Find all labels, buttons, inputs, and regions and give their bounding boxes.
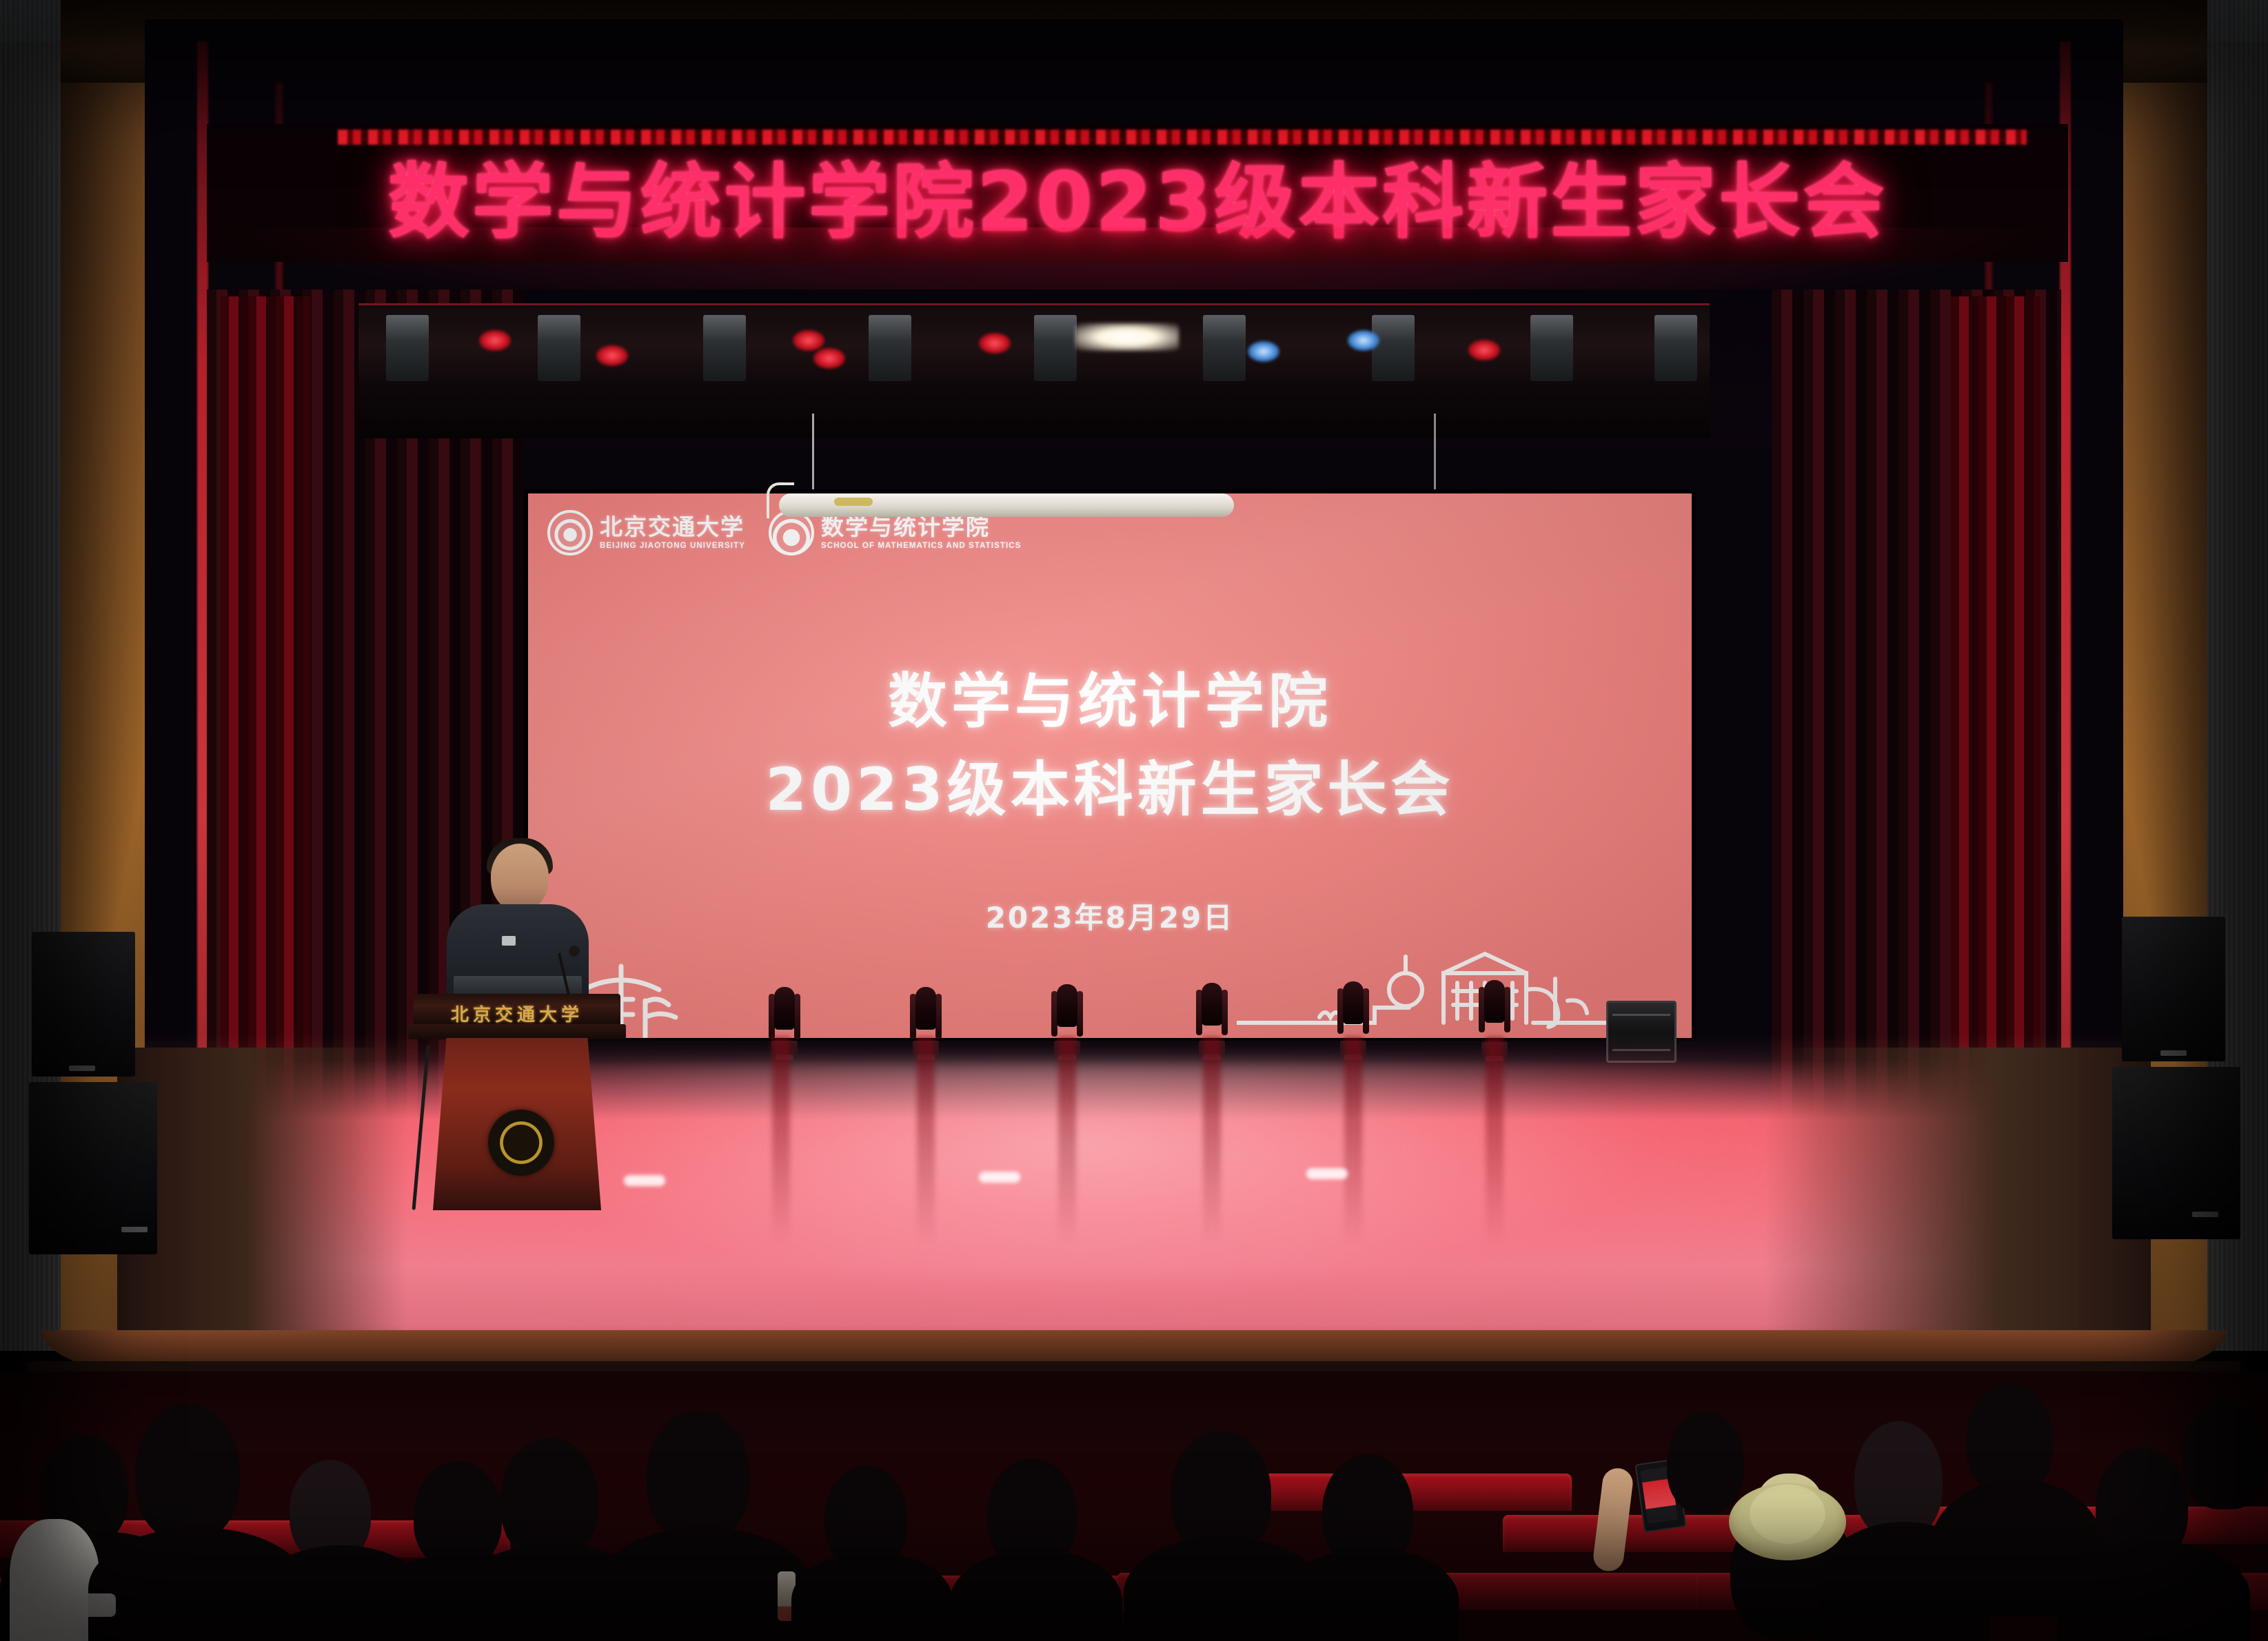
floor-highlight — [979, 1172, 1020, 1183]
truss-fixture-icon — [1372, 315, 1415, 381]
logo-bjtu-cn: 北京交通大学 — [600, 516, 745, 540]
truss-lamp-red-icon — [1468, 340, 1500, 360]
slide-date: 2023年8月29日 — [528, 895, 1692, 937]
bjtu-seal-icon — [547, 510, 593, 556]
audience-head — [2183, 1400, 2268, 1509]
truss-fixture-icon — [1654, 315, 1697, 381]
stage-floor-wing-left — [117, 1048, 407, 1344]
straw-hat — [1729, 1483, 1846, 1560]
pa-speaker-top-right — [2122, 917, 2225, 1061]
slide-title: 数学与统计学院 2023级本科新生家长会 — [528, 658, 1692, 834]
hanging-cable — [1434, 414, 1436, 496]
audience-shoulders — [950, 1549, 1122, 1641]
projection-screen: 北京交通大学 BEIJING JIAOTONG UNIVERSITY 数学与统计… — [528, 493, 1692, 1038]
pa-speaker-badge — [2192, 1212, 2218, 1217]
speaker-head — [491, 844, 549, 913]
pa-speaker-badge — [69, 1066, 95, 1071]
floor-reflection-streak — [772, 1037, 790, 1244]
audience-shoulders — [2057, 1541, 2250, 1641]
truss-fixture-icon — [386, 315, 429, 381]
projector-label-icon — [834, 498, 873, 506]
bjtu-crest-icon — [488, 1110, 554, 1176]
truss-lamp-red-icon — [813, 348, 845, 369]
truss-lamp-red-icon — [479, 330, 511, 351]
audience-head — [1667, 1411, 1744, 1513]
face-mask-icon — [77, 1593, 116, 1617]
pa-speaker-badge — [121, 1227, 148, 1232]
shirt-logo-icon — [502, 936, 516, 946]
truss-lamp-blue-icon — [1248, 341, 1279, 362]
floor-highlight — [624, 1175, 665, 1186]
logo-bjtu: 北京交通大学 BEIJING JIAOTONG UNIVERSITY — [547, 510, 745, 556]
raised-hand — [1592, 1467, 1634, 1573]
audience-head — [647, 1410, 750, 1541]
floor-reflection-streak — [1486, 1037, 1503, 1244]
audience-area — [0, 1372, 2268, 1641]
audience-shoulders — [791, 1552, 953, 1641]
floor-highlight — [1306, 1168, 1348, 1179]
floor-reflection-streak — [1203, 1037, 1221, 1244]
stage-floor-wing-right — [1765, 1048, 2151, 1344]
audience-white-shirt — [10, 1519, 99, 1641]
led-banner: 数学与统计学院2023级本科新生家长会 — [207, 124, 2068, 262]
campus-skyline-art-icon — [1237, 941, 1623, 1038]
truss-fixture-icon — [869, 315, 911, 381]
truss-lamp-red-icon — [793, 330, 824, 351]
auditorium-photo: 数学与统计学院2023级本科新生家长会 — [0, 0, 2268, 1641]
truss-lamp-white-icon — [1075, 323, 1179, 351]
truss-lamp-blue-icon — [1348, 330, 1379, 351]
floor-reflection-streak — [1058, 1037, 1076, 1244]
floor-reflection-streak — [1344, 1037, 1362, 1244]
truss-lamp-red-icon — [596, 345, 628, 366]
slide-title-line2: 2023级本科新生家长会 — [528, 746, 1692, 834]
truss-fixture-icon — [1203, 315, 1246, 381]
podium-group: 北京交通大学 — [414, 910, 620, 1268]
floor-reflection-streak — [917, 1037, 935, 1244]
truss-fixture-icon — [1034, 315, 1077, 381]
microphone-icon — [569, 946, 580, 957]
podium-lip — [408, 1024, 626, 1039]
pa-speaker-top-left — [32, 932, 135, 1077]
audience-shoulders — [1284, 1548, 1459, 1641]
logo-bjtu-en: BEIJING JIAOTONG UNIVERSITY — [600, 542, 745, 551]
logo-smas-cn: 数学与统计学院 — [821, 516, 1021, 540]
audience-head — [1854, 1421, 1943, 1538]
lighting-truss — [358, 303, 1710, 396]
truss-fixture-icon — [1530, 315, 1573, 381]
lighting-truss-lower — [358, 390, 1710, 438]
audience-head — [135, 1403, 240, 1541]
truss-fixture-icon — [538, 315, 580, 381]
truss-lamp-red-icon — [979, 333, 1011, 354]
podium-nameplate: 北京交通大学 — [414, 1001, 620, 1026]
audience-head — [500, 1438, 598, 1560]
pa-subwoofer-right — [2112, 1067, 2240, 1239]
led-pixel-strip — [338, 130, 2027, 145]
truss-fixture-icon — [703, 315, 746, 381]
pa-speaker-badge — [2160, 1050, 2187, 1056]
led-banner-text: 数学与统计学院2023级本科新生家长会 — [207, 150, 2068, 254]
podium-cable — [412, 1045, 430, 1210]
seat-row — [1255, 1474, 1572, 1511]
slide-title-line1: 数学与统计学院 — [528, 658, 1692, 746]
logo-smas-en: SCHOOL OF MATHEMATICS AND STATISTICS — [821, 542, 1021, 551]
